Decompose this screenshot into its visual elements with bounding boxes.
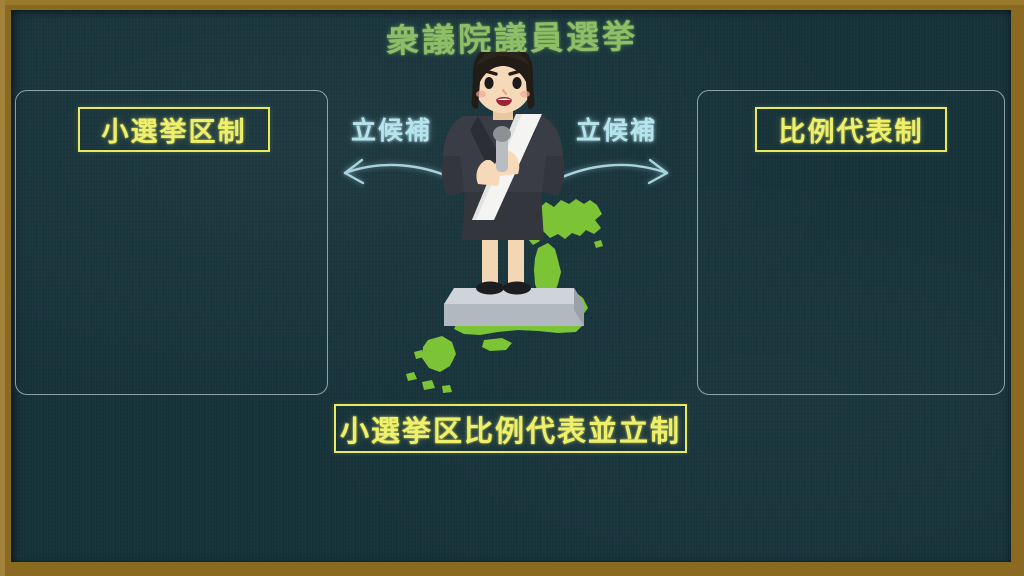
label-proportional-representation: 比例代表制 — [755, 107, 947, 152]
label-parallel-system: 小選挙区比例代表並立制 — [334, 404, 687, 453]
label-single-member-district: 小選挙区制 — [78, 107, 270, 152]
frame-highlight-left — [0, 0, 5, 576]
blackboard-slide: 衆議院議員選挙 小選挙区制 比例代表制 小選挙区比例代表並立制 立候補 立候補 — [0, 0, 1024, 576]
illustration-candidate-on-japan-map — [398, 52, 630, 400]
